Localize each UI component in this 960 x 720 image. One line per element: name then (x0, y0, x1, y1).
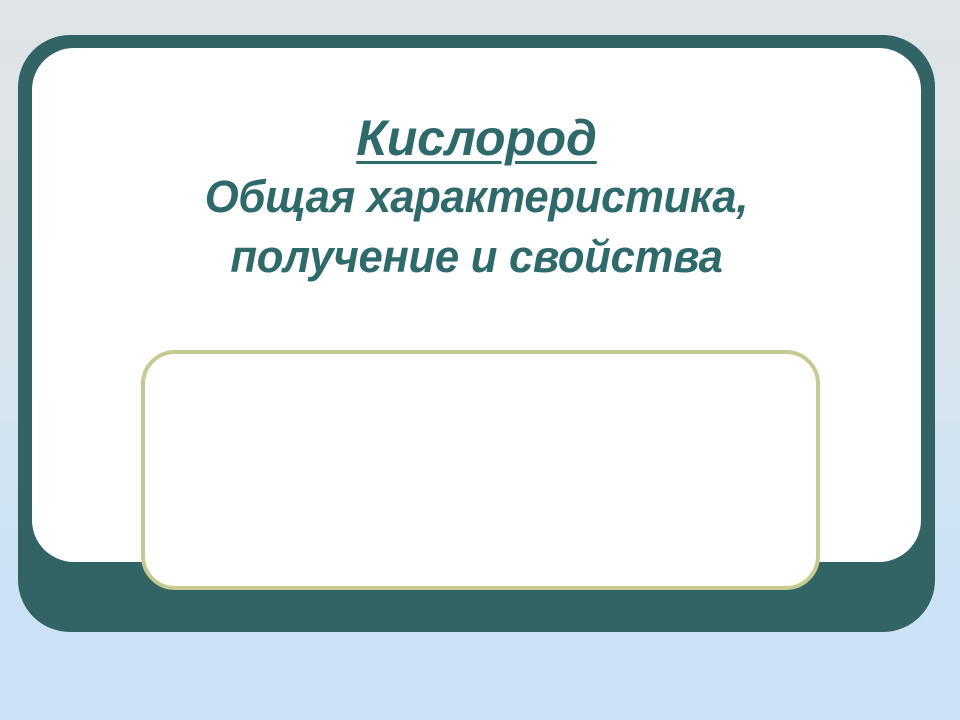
title-block: Кислород Общая характеристика, получение… (32, 110, 921, 287)
page-title: Кислород (32, 110, 921, 167)
content-placeholder-text (145, 354, 816, 586)
subtitle-line-1: Общая характеристика, (45, 167, 907, 227)
slide-canvas: Кислород Общая характеристика, получение… (0, 0, 960, 720)
page-title-text: Кислород (356, 110, 596, 166)
content-placeholder-box[interactable] (141, 350, 820, 590)
subtitle-line-2: получение и свойства (45, 227, 907, 287)
